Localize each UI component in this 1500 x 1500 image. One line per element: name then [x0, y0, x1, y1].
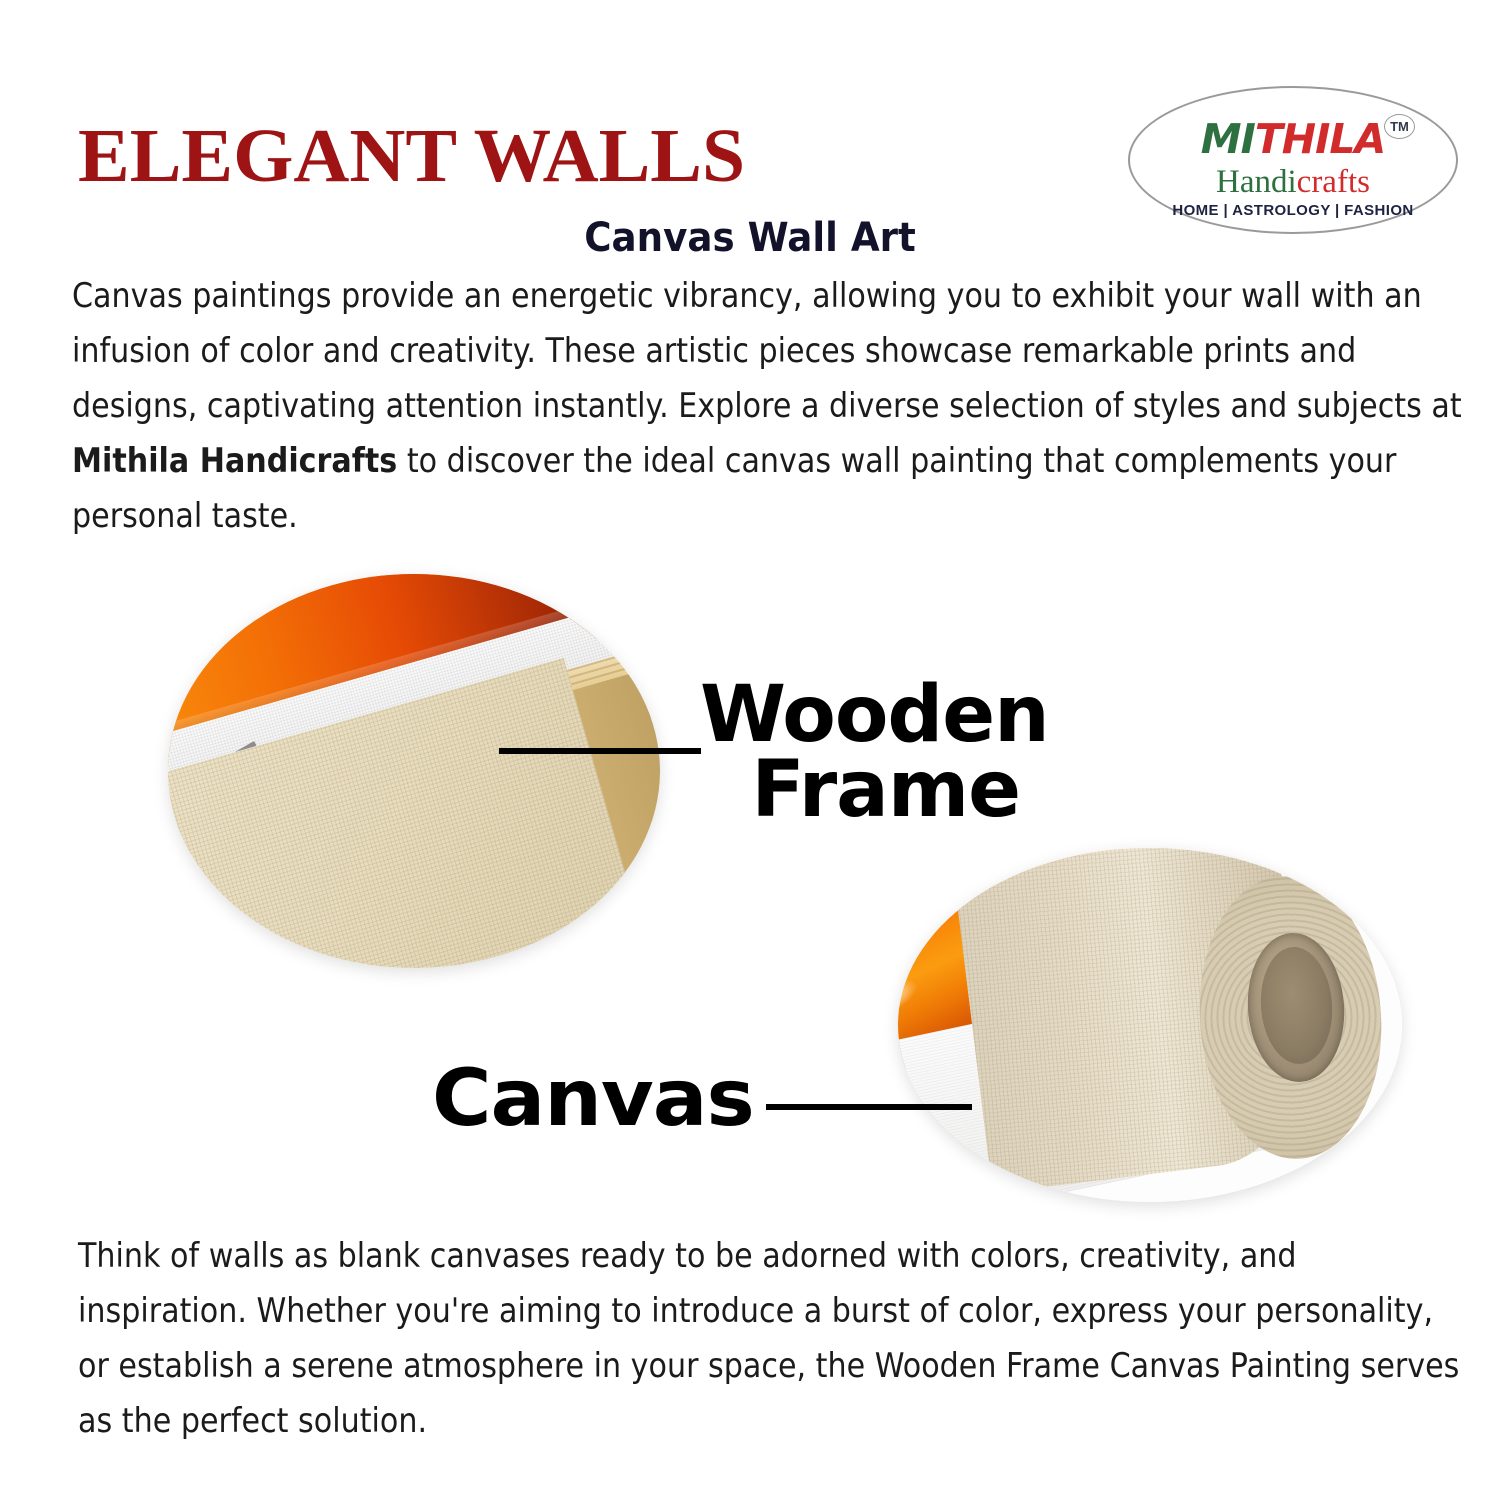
closing-paragraph: Think of walls as blank canvases ready t… — [78, 1228, 1469, 1448]
roll-scene — [898, 848, 1402, 1202]
logo-word-handicrafts: Handicrafts — [1128, 166, 1458, 199]
callout-label-wooden-frame: Wooden Frame — [700, 678, 1020, 828]
intro-text-a: Canvas paintings provide an energetic vi… — [72, 276, 1462, 425]
intro-paragraph: Canvas paintings provide an energetic vi… — [72, 268, 1476, 543]
logo-word-part1: Handi — [1216, 164, 1297, 200]
logo-word-part2: crafts — [1297, 164, 1370, 200]
trademark-icon: TM — [1384, 114, 1415, 139]
intro-brand-mention: Mithila Handicrafts — [72, 441, 397, 480]
logo-name-part2: THILA — [1255, 115, 1385, 163]
canvas-leader-line — [766, 1104, 972, 1110]
page-subtitle: Canvas Wall Art — [53, 215, 1448, 261]
wooden-frame-leader-line — [499, 748, 701, 754]
infographic-page: ELEGANT WALLS MITHILA TM Handicrafts HOM… — [0, 0, 1500, 1500]
callout-label-canvas: Canvas — [432, 1062, 754, 1137]
logo-name-part1: MI — [1201, 115, 1255, 163]
frame-scene — [168, 574, 660, 968]
wooden-frame-photo — [168, 574, 660, 968]
canvas-roll-photo — [898, 848, 1402, 1202]
brand-logo: MITHILA TM Handicrafts HOME | ASTROLOGY … — [1128, 86, 1458, 234]
page-title: ELEGANT WALLS — [78, 118, 745, 194]
